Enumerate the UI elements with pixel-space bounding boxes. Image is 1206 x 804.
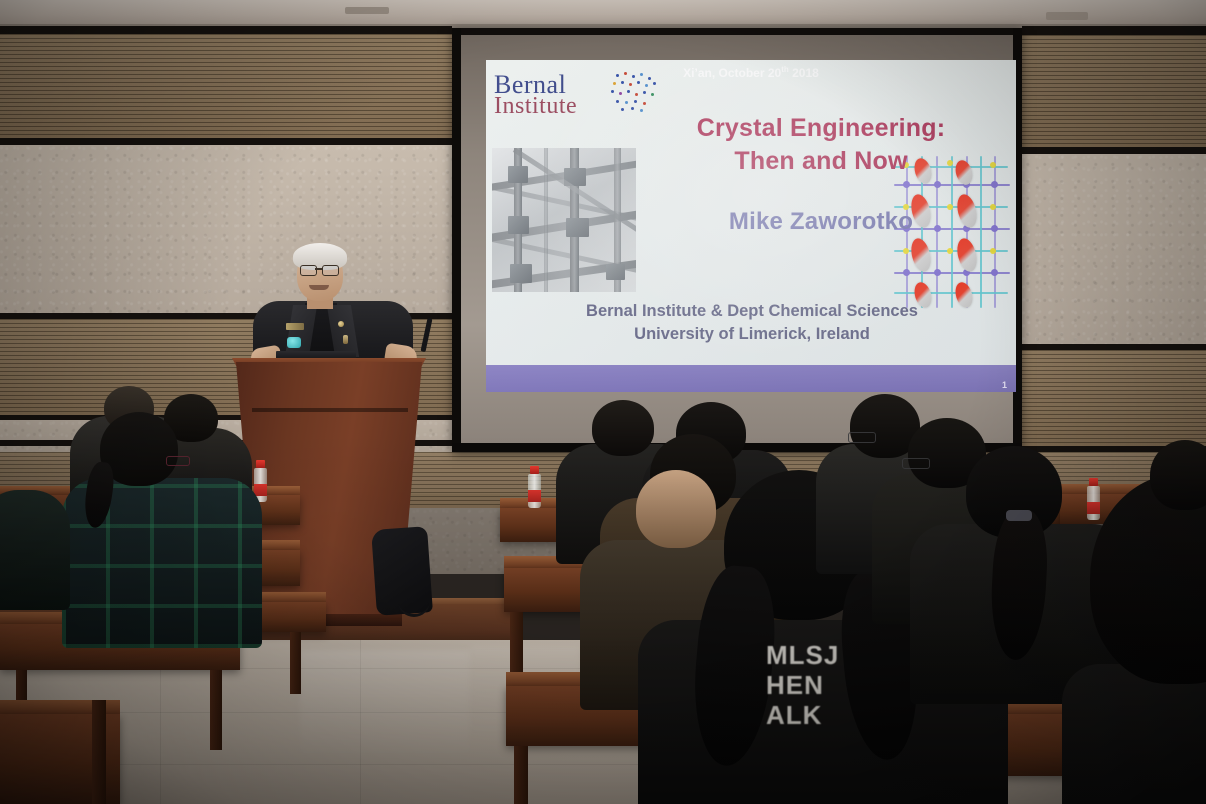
glasses-icon <box>322 265 339 276</box>
glasses-bridge <box>315 268 322 270</box>
wood-slat-panel <box>1022 35 1206 147</box>
speaker-lapel-pin <box>343 335 348 344</box>
ceiling <box>0 0 1206 26</box>
desk-leg <box>514 746 528 804</box>
slide-author: Mike Zaworotko <box>626 208 1016 236</box>
wall-trim <box>0 26 452 34</box>
bottle-cap-icon <box>1089 478 1098 486</box>
footer-date-post: 2018 <box>789 66 819 80</box>
wall-trim <box>1022 147 1206 154</box>
lectern-trim-band <box>252 408 408 412</box>
jacket-text-line2: HEN <box>766 670 839 700</box>
lecture-hall-photo: Bernal Institute <box>0 0 1206 804</box>
speaker-name-badge <box>286 323 304 330</box>
slide-page-number: 1 <box>1002 380 1007 390</box>
slide-title-line2: Then and Now <box>626 145 1016 178</box>
water-bottle <box>1087 478 1100 520</box>
jacket-text-line1: MLSJ <box>766 640 839 670</box>
screen-frame-top <box>452 28 1022 35</box>
desk-leg <box>290 632 301 694</box>
footer-date-superscript: th <box>781 65 789 74</box>
slide-title: Crystal Engineering: Then and Now <box>626 112 1016 178</box>
bottle-cap-icon <box>256 460 265 468</box>
wall-trim <box>0 138 452 145</box>
glasses-icon <box>166 456 190 466</box>
screen-frame-left <box>452 28 461 452</box>
bottle-cap-icon <box>530 466 539 474</box>
desk-leg <box>92 700 106 804</box>
glasses-icon <box>848 432 876 443</box>
jacket-text: MLSJ HEN ALK <box>766 640 839 730</box>
speaker-lapel-pin <box>338 321 344 327</box>
wall-trim <box>1022 26 1206 35</box>
water-bottle <box>528 466 541 508</box>
jacket-text-line3: ALK <box>766 700 839 730</box>
presentation-slide: Bernal Institute <box>486 60 1016 392</box>
glasses-icon <box>300 265 317 276</box>
bernal-institute-logo: Bernal Institute <box>494 72 644 127</box>
affiliation-line1: Bernal Institute & Dept Chemical Science… <box>506 300 998 323</box>
hair-tie <box>1006 510 1032 521</box>
slide-title-line1: Crystal Engineering: <box>626 112 1016 145</box>
speaker-teal-badge <box>287 337 301 348</box>
stucco-wall-panel <box>1022 154 1206 344</box>
ceiling-vent-icon <box>345 7 389 14</box>
ceiling-vent-icon <box>1046 12 1088 20</box>
wood-slat-panel <box>0 34 452 138</box>
desk-leg <box>210 670 222 750</box>
slide-footer-text: Xi’an, October 20th 2018 <box>486 65 1016 80</box>
wood-slat-panel <box>1022 350 1206 446</box>
footer-date-pre: Xi’an, October 20 <box>683 66 781 80</box>
glasses-icon <box>902 458 930 469</box>
slide-affiliation: Bernal Institute & Dept Chemical Science… <box>506 300 998 346</box>
speaker-mouth <box>309 285 329 290</box>
scaffold-lattice-image <box>492 148 636 292</box>
slide-footer-bar <box>486 365 1016 392</box>
affiliation-line2: University of Limerick, Ireland <box>506 323 998 346</box>
